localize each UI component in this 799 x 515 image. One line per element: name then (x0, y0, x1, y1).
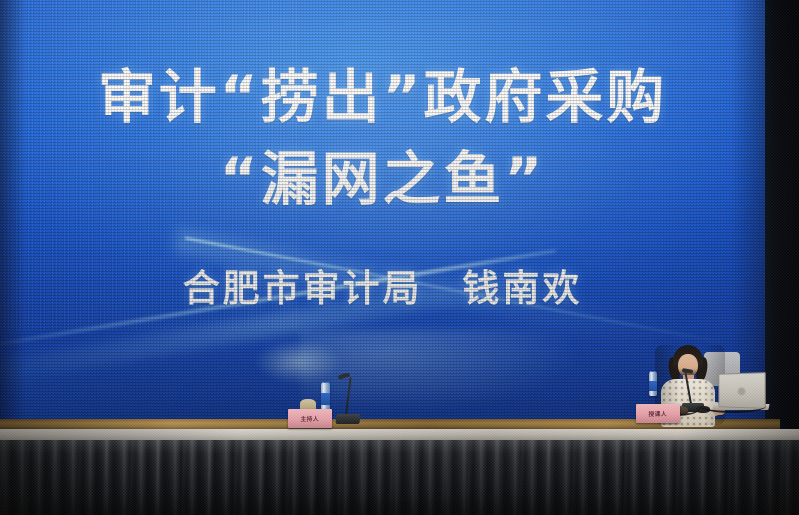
microphone-base-left (335, 414, 360, 424)
led-projection-screen: 审计“捞出”政府采购 “漏网之鱼” 合肥市审计局 钱南欢 (0, 0, 765, 419)
presentation-photo-scene: 审计“捞出”政府采购 “漏网之鱼” 合肥市审计局 钱南欢 主持人 (0, 0, 799, 515)
table-skirt-vignette (0, 440, 799, 515)
nameplate-presenter-label: 授课人 (649, 409, 668, 418)
nameplate-host-label: 主持人 (301, 414, 320, 423)
auditorium-right-wall (759, 0, 799, 432)
nameplate-host: 主持人 (288, 409, 332, 428)
desk-cable-1 (700, 399, 766, 413)
bottle-label-right (649, 381, 657, 391)
screen-vignette (0, 0, 765, 419)
bottle-cap-icon-right (651, 371, 656, 372)
laptop-logo-icon (737, 387, 746, 396)
nameplate-presenter: 授课人 (636, 404, 680, 423)
water-bottle-left (321, 382, 330, 412)
water-bottle-right (649, 371, 657, 396)
bottle-cap-icon (323, 382, 328, 383)
screen-left-edge-shadow (0, 0, 26, 419)
table-skirt (0, 440, 799, 515)
bottle-label (321, 393, 330, 405)
